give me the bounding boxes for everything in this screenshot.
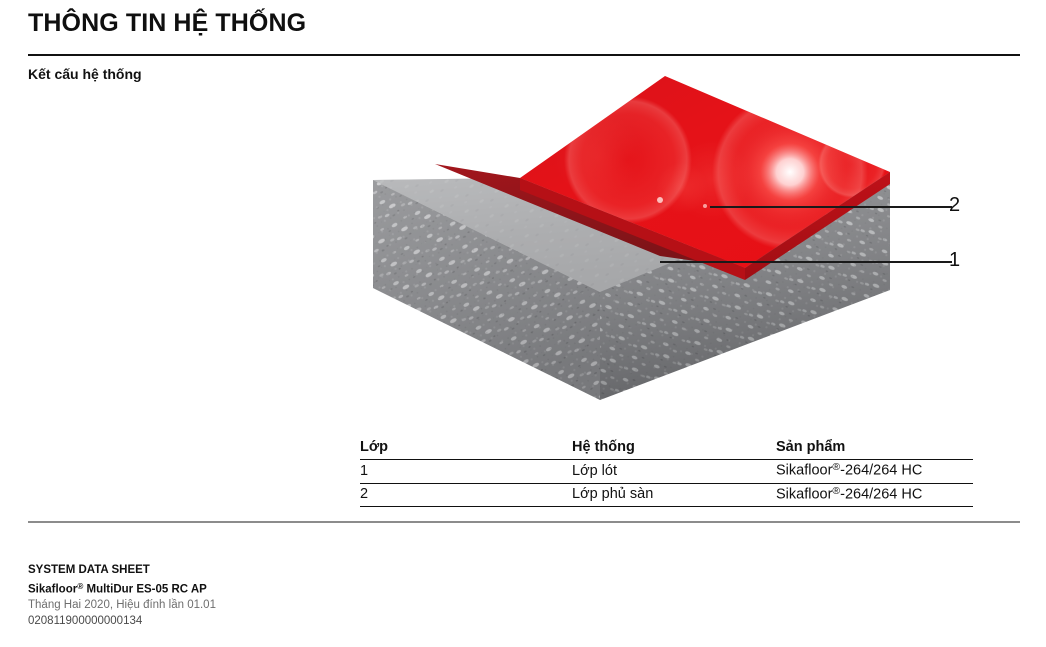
callout-number-1: 1 — [949, 250, 960, 270]
footer-divider — [28, 521, 1020, 523]
cell-system: Lớp lót — [566, 460, 770, 484]
page-title: THÔNG TIN HỆ THỐNG — [28, 9, 306, 38]
page-root: THÔNG TIN HỆ THỐNG Kết cấu hệ thống — [0, 0, 1046, 647]
cell-product: Sikafloor®-264/264 HC — [770, 460, 973, 484]
system-layers-table: Lớp Hệ thống Sản phẩm 1 Lớp lót Sikafloo… — [360, 437, 973, 507]
cell-system: Lớp phủ sàn — [566, 483, 770, 507]
footer-revision: Tháng Hai 2020, Hiệu đính lần 01.01 — [28, 598, 588, 614]
footer-product-name: Sikafloor® MultiDur ES-05 RC AP — [28, 579, 588, 598]
column-header-system: Hệ thống — [566, 437, 770, 460]
registered-mark-icon: ® — [832, 462, 840, 473]
footer-doc-type: SYSTEM DATA SHEET — [28, 563, 588, 579]
header-divider — [28, 54, 1020, 56]
table-header-row: Lớp Hệ thống Sản phẩm — [360, 437, 973, 460]
product-name: Sikafloor — [776, 463, 832, 479]
table-row: 2 Lớp phủ sàn Sikafloor®-264/264 HC — [360, 483, 973, 507]
registered-mark-icon: ® — [832, 486, 840, 497]
cell-product: Sikafloor®-264/264 HC — [770, 483, 973, 507]
section-title: Kết cấu hệ thống — [28, 66, 142, 82]
product-suffix: -264/264 HC — [840, 463, 922, 479]
footer-product-suffix: MultiDur ES-05 RC AP — [83, 583, 207, 595]
footer-product-base: Sikafloor — [28, 583, 77, 595]
product-name: Sikafloor — [776, 486, 832, 502]
callout-number-2: 2 — [949, 195, 960, 215]
product-suffix: -264/264 HC — [840, 486, 922, 502]
table-row: 1 Lớp lót Sikafloor®-264/264 HC — [360, 460, 973, 484]
cell-layer: 1 — [360, 460, 566, 484]
footer: SYSTEM DATA SHEET Sikafloor® MultiDur ES… — [28, 563, 588, 630]
column-header-layer: Lớp — [360, 437, 566, 460]
cell-layer: 2 — [360, 483, 566, 507]
system-buildup-illustration — [360, 60, 980, 420]
column-header-product: Sản phẩm — [770, 437, 973, 460]
footer-doc-number: 020811900000000134 — [28, 614, 588, 630]
